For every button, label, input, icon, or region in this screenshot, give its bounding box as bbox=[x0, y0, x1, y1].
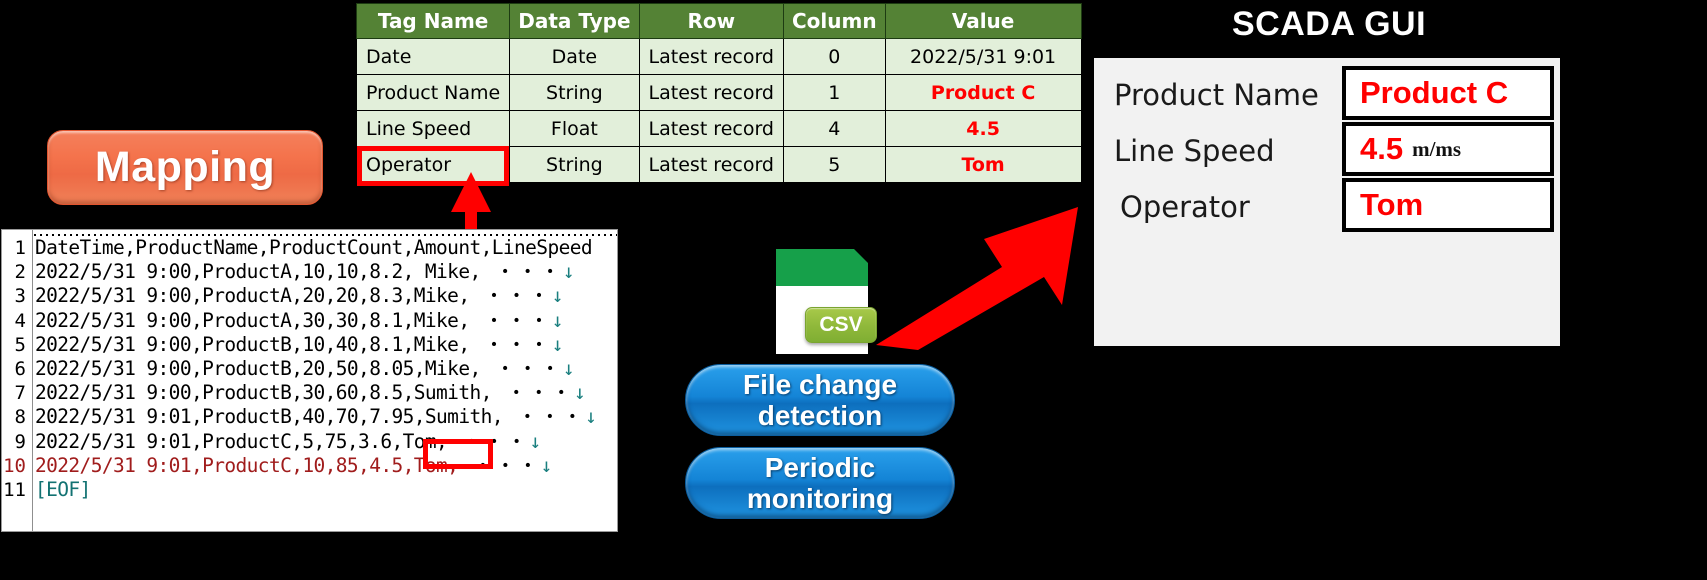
csv-line[interactable]: 32022/5/31 9:00,ProductA,20,20,8.3,Mike,… bbox=[2, 284, 618, 308]
cell-column: 0 bbox=[784, 39, 886, 75]
csv-text-viewer[interactable]: 1DateTime,ProductName,ProductCount,Amoun… bbox=[1, 229, 618, 532]
table-row[interactable]: Line SpeedFloatLatest record44.5 bbox=[357, 111, 1082, 147]
csv-line-number: 4 bbox=[2, 309, 30, 333]
csv-ellipsis-dots: ・・・ bbox=[447, 430, 529, 453]
mapping-button-label: Mapping bbox=[95, 143, 275, 192]
scada-field-value-product-name[interactable]: Product C bbox=[1342, 66, 1554, 120]
csv-newline-mark-icon: ↓ bbox=[574, 381, 585, 404]
csv-line[interactable]: 102022/5/31 9:01,ProductC,10,85,4.5,Tom,… bbox=[2, 454, 618, 478]
cell-data-type: String bbox=[510, 147, 639, 183]
csv-to-scada-arrow-icon bbox=[872, 205, 1082, 350]
csv-newline-mark-icon: ↓ bbox=[585, 405, 596, 428]
cell-data-type: Date bbox=[510, 39, 639, 75]
csv-line[interactable]: 1DateTime,ProductName,ProductCount,Amoun… bbox=[2, 236, 618, 260]
cell-row: Latest record bbox=[639, 111, 783, 147]
scada-field-value-operator[interactable]: Tom bbox=[1342, 178, 1554, 232]
csv-ellipsis-dots: ・・・ bbox=[481, 357, 563, 380]
cell-row: Latest record bbox=[639, 147, 783, 183]
mapping-button[interactable]: Mapping bbox=[47, 130, 323, 205]
csv-ellipsis-dots: ・・・ bbox=[469, 333, 551, 356]
csv-ellipsis-dots: ・・・ bbox=[469, 309, 551, 332]
file-change-detection-button[interactable]: File changedetection bbox=[685, 364, 955, 436]
csv-line[interactable]: 52022/5/31 9:00,ProductB,10,40,8.1,Mike,… bbox=[2, 333, 618, 357]
csv-line[interactable]: 82022/5/31 9:01,ProductB,40,70,7.95,Sumi… bbox=[2, 405, 618, 429]
cell-data-type: String bbox=[510, 75, 639, 111]
scada-gui-panel: Product Name Product C Line Speed 4.5 m/… bbox=[1094, 58, 1560, 346]
cell-row: Latest record bbox=[639, 75, 783, 111]
csv-line[interactable]: 22022/5/31 9:00,ProductA,10,10,8.2, Mike… bbox=[2, 260, 618, 284]
csv-newline-mark-icon: ↓ bbox=[552, 333, 563, 356]
column-header-value: Value bbox=[885, 4, 1081, 39]
csv-line-number: 2 bbox=[2, 260, 30, 284]
csv-newline-mark-icon: ↓ bbox=[541, 454, 552, 477]
csv-line-number: 6 bbox=[2, 357, 30, 381]
mapping-table: Tag Name Data Type Row Column Value Date… bbox=[356, 3, 1082, 183]
csv-line-text: 2022/5/31 9:00,ProductB,20,50,8.05,Mike,… bbox=[35, 357, 574, 381]
periodic-monitoring-button[interactable]: Periodicmonitoring bbox=[685, 447, 955, 519]
diagram-canvas: Mapping Tag Name Data Type Row Column Va… bbox=[0, 0, 1707, 580]
csv-line-number: 7 bbox=[2, 381, 30, 405]
csv-newline-mark-icon: ↓ bbox=[529, 430, 540, 453]
csv-line[interactable]: 42022/5/31 9:00,ProductA,30,30,8.1,Mike,… bbox=[2, 309, 618, 333]
mapping-table-header-row: Tag Name Data Type Row Column Value bbox=[357, 4, 1082, 39]
csv-line-number: 1 bbox=[2, 236, 30, 260]
csv-line-number: 8 bbox=[2, 405, 30, 429]
cell-column: 5 bbox=[784, 147, 886, 183]
scada-field-label-line-speed: Line Speed bbox=[1114, 134, 1275, 168]
csv-line-text: 2022/5/31 9:00,ProductA,20,20,8.3,Mike, … bbox=[35, 284, 563, 308]
cell-row: Latest record bbox=[639, 39, 783, 75]
csv-line-text: DateTime,ProductName,ProductCount,Amount… bbox=[35, 236, 592, 260]
periodic-monitoring-label: Periodicmonitoring bbox=[747, 452, 893, 515]
csv-line-text: [EOF] bbox=[35, 478, 91, 502]
csv-newline-mark-icon: ↓ bbox=[552, 309, 563, 332]
file-change-detection-label: File changedetection bbox=[743, 369, 897, 432]
csv-line-text: 2022/5/31 9:00,ProductA,30,30,8.1,Mike, … bbox=[35, 309, 563, 333]
cell-tag-name: Product Name bbox=[357, 75, 510, 111]
csv-line-text: 2022/5/31 9:01,ProductB,40,70,7.95,Sumit… bbox=[35, 405, 596, 429]
csv-ellipsis-dots: ・・・ bbox=[503, 405, 585, 428]
csv-line-text: 2022/5/31 9:00,ProductB,30,60,8.5,Sumith… bbox=[35, 381, 585, 405]
csv-line-text: 2022/5/31 9:00,ProductB,10,40,8.1,Mike, … bbox=[35, 333, 563, 357]
table-row[interactable]: DateDateLatest record02022/5/31 9:01 bbox=[357, 39, 1082, 75]
cell-column: 4 bbox=[784, 111, 886, 147]
csv-ellipsis-dots: ・・・ bbox=[481, 260, 563, 283]
cell-column: 1 bbox=[784, 75, 886, 111]
csv-ellipsis-dots: ・・・ bbox=[469, 284, 551, 307]
csv-line[interactable]: 11[EOF] bbox=[2, 478, 618, 502]
column-header-data-type: Data Type bbox=[510, 4, 639, 39]
cell-value: 4.5 bbox=[885, 111, 1081, 147]
csv-line[interactable]: 62022/5/31 9:00,ProductB,20,50,8.05,Mike… bbox=[2, 357, 618, 381]
cell-tag-name: Date bbox=[357, 39, 510, 75]
csv-line-number: 11 bbox=[2, 478, 30, 502]
table-row[interactable]: Product NameStringLatest record1Product … bbox=[357, 75, 1082, 111]
column-header-column: Column bbox=[784, 4, 886, 39]
csv-line-number: 3 bbox=[2, 284, 30, 308]
csv-file-icon[interactable]: CSV bbox=[776, 249, 868, 354]
scada-gui-title: SCADA GUI bbox=[1232, 5, 1426, 44]
csv-line[interactable]: 72022/5/31 9:00,ProductB,30,60,8.5,Sumit… bbox=[2, 381, 618, 405]
csv-newline-mark-icon: ↓ bbox=[552, 284, 563, 307]
column-header-row: Row bbox=[639, 4, 783, 39]
csv-line-text: 2022/5/31 9:01,ProductC,10,85,4.5,Tom, ・… bbox=[35, 454, 552, 478]
cell-value: 2022/5/31 9:01 bbox=[885, 39, 1081, 75]
csv-line[interactable]: 92022/5/31 9:01,ProductC,5,75,3.6,Tom, ・… bbox=[2, 430, 618, 454]
cell-value: Product C bbox=[885, 75, 1081, 111]
cell-tag-name: Line Speed bbox=[357, 111, 510, 147]
csv-icon-sheet-top bbox=[776, 249, 868, 286]
csv-newline-mark-icon: ↓ bbox=[563, 357, 574, 380]
csv-line-number: 10 bbox=[2, 454, 30, 478]
line-speed-unit: m/ms bbox=[1412, 137, 1461, 162]
scada-field-label-operator: Operator bbox=[1120, 190, 1250, 224]
csv-ellipsis-dots: ・・・ bbox=[492, 381, 574, 404]
column-header-tag-name: Tag Name bbox=[357, 4, 510, 39]
scada-field-value-line-speed[interactable]: 4.5 m/ms bbox=[1342, 122, 1554, 176]
csv-icon-badge-label: CSV bbox=[819, 313, 862, 337]
csv-ellipsis-dots: ・・・ bbox=[458, 454, 540, 477]
csv-icon-badge: CSV bbox=[805, 307, 877, 343]
csv-line-number: 9 bbox=[2, 430, 30, 454]
cell-data-type: Float bbox=[510, 111, 639, 147]
csv-line-text: 2022/5/31 9:00,ProductA,10,10,8.2, Mike,… bbox=[35, 260, 574, 284]
scada-field-label-product-name: Product Name bbox=[1114, 78, 1319, 112]
csv-line-number: 5 bbox=[2, 333, 30, 357]
cell-value: Tom bbox=[885, 147, 1081, 183]
csv-line-text: 2022/5/31 9:01,ProductC,5,75,3.6,Tom, ・・… bbox=[35, 430, 541, 454]
csv-newline-mark-icon: ↓ bbox=[563, 260, 574, 283]
